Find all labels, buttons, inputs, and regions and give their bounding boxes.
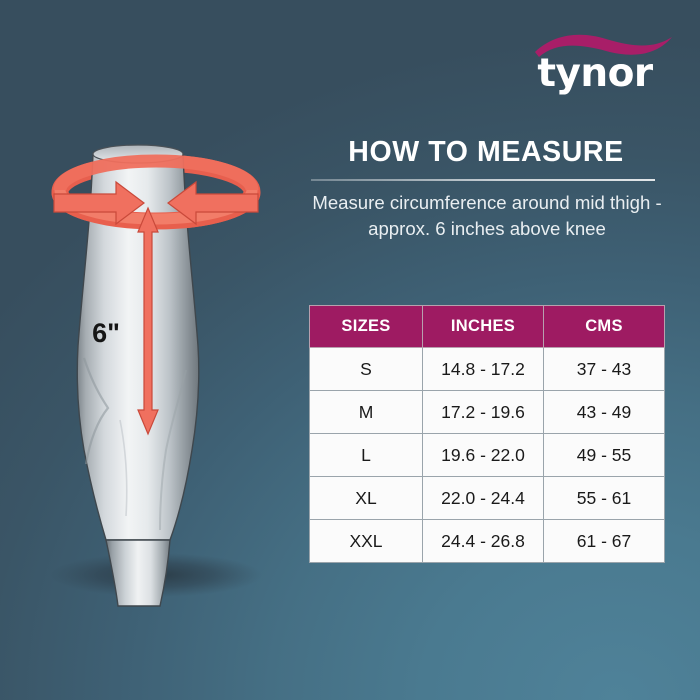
cell-cms: 61 - 67 [544,520,665,563]
cell-inches: 24.4 - 26.8 [423,520,544,563]
cell-cms: 43 - 49 [544,391,665,434]
title-divider [311,179,655,181]
cell-size: L [310,434,423,477]
cell-inches: 22.0 - 24.4 [423,477,544,520]
column-header-sizes: SIZES [310,306,423,348]
table-row: S 14.8 - 17.2 37 - 43 [310,348,665,391]
cell-size: M [310,391,423,434]
page-subtitle: Measure circumference around mid thigh -… [300,190,674,243]
cell-cms: 49 - 55 [544,434,665,477]
cell-inches: 17.2 - 19.6 [423,391,544,434]
table-row: XL 22.0 - 24.4 55 - 61 [310,477,665,520]
leg-thigh-measurement-illustration: 6" [20,120,290,620]
size-chart-page: tynor HOW TO MEASURE Measure circumferen… [0,0,700,700]
cell-cms: 37 - 43 [544,348,665,391]
brand-logo: tynor [510,24,680,104]
page-title: HOW TO MEASURE [300,136,672,169]
cell-size: S [310,348,423,391]
brand-name: tynor [510,54,680,93]
cell-inches: 19.6 - 22.0 [423,434,544,477]
measure-label: 6" [92,318,120,348]
table-row: M 17.2 - 19.6 43 - 49 [310,391,665,434]
cell-inches: 14.8 - 17.2 [423,348,544,391]
cell-cms: 55 - 61 [544,477,665,520]
column-header-inches: INCHES [423,306,544,348]
table-header-row: SIZES INCHES CMS [310,306,665,348]
table-row: XXL 24.4 - 26.8 61 - 67 [310,520,665,563]
column-header-cms: CMS [544,306,665,348]
size-chart-table: SIZES INCHES CMS S 14.8 - 17.2 37 - 43 M… [309,305,665,563]
table-row: L 19.6 - 22.0 49 - 55 [310,434,665,477]
cell-size: XXL [310,520,423,563]
cell-size: XL [310,477,423,520]
